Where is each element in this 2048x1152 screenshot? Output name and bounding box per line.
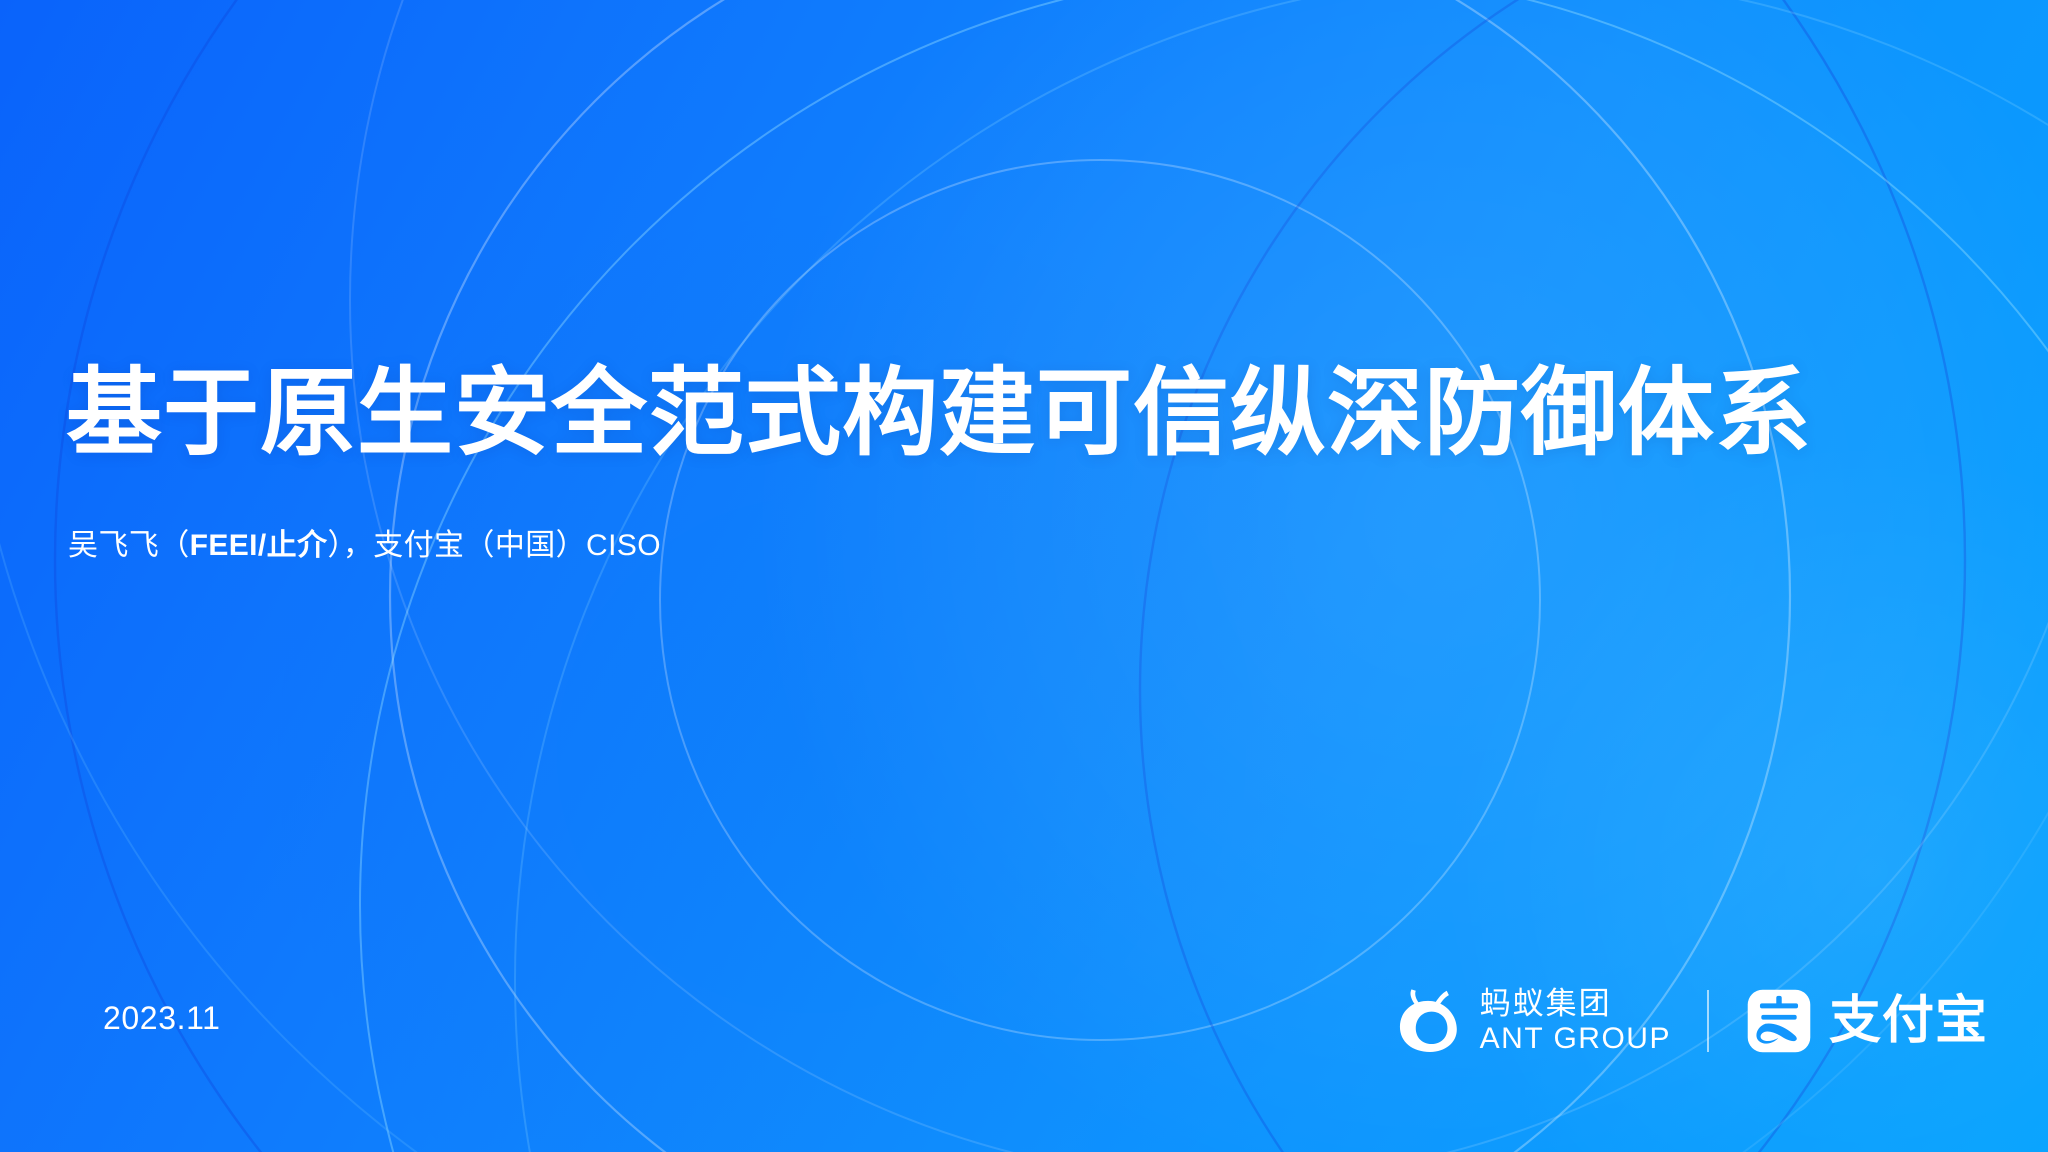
decorative-arc-inner-light — [660, 160, 1540, 1040]
background-sheen-left — [240, 180, 1390, 1152]
logo-lockup: 蚂蚁集团 ANT GROUP 支付宝 — [1392, 978, 1988, 1064]
slide-date: 2023.11 — [103, 1000, 221, 1037]
title-slide: 基于原生安全范式构建可信纵深防御体系 吴飞飞（FEEI/止介），支付宝（中国）C… — [0, 0, 2048, 1152]
subtitle-handle: FEEI/止介 — [190, 529, 328, 562]
slide-title: 基于原生安全范式构建可信纵深防御体系 — [66, 364, 1812, 464]
ant-group-logo: 蚂蚁集团 ANT GROUP — [1392, 985, 1671, 1057]
ant-group-name-en: ANT GROUP — [1480, 1024, 1671, 1054]
subtitle-suffix: ），支付宝（中国）CISO — [327, 529, 661, 562]
subtitle-prefix: 吴飞飞（ — [68, 529, 190, 562]
ant-group-wordmark: 蚂蚁集团 ANT GROUP — [1480, 988, 1671, 1054]
slide-subtitle: 吴飞飞（FEEI/止介），支付宝（中国）CISO — [68, 526, 661, 565]
alipay-icon — [1745, 987, 1813, 1055]
ant-group-name-cn: 蚂蚁集团 — [1480, 988, 1671, 1019]
alipay-name-cn: 支付宝 — [1829, 995, 1988, 1047]
logo-divider — [1707, 990, 1709, 1052]
alipay-logo: 支付宝 — [1745, 987, 1988, 1055]
ant-icon — [1392, 985, 1464, 1057]
